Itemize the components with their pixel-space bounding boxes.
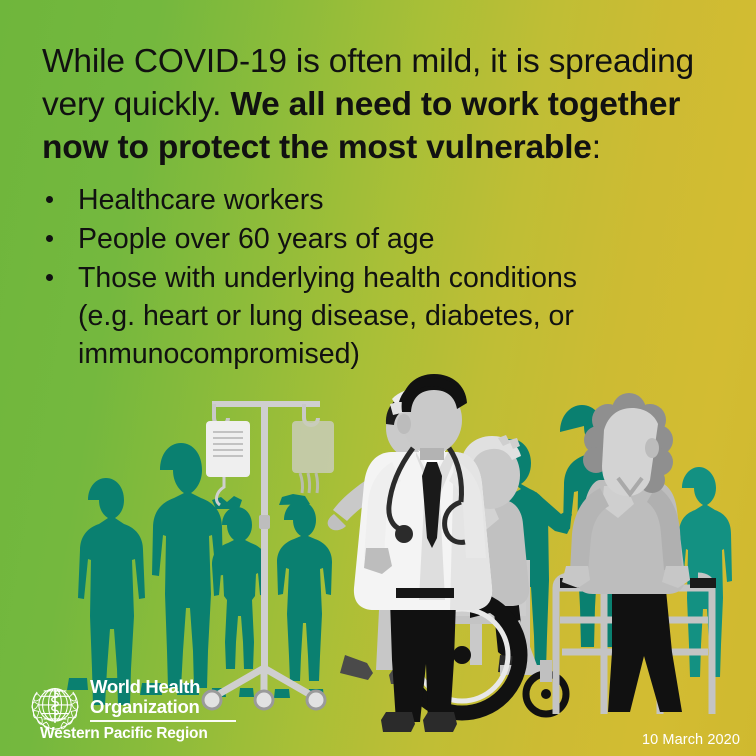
bullet-dot-icon [46, 235, 53, 242]
headline-colon: : [592, 129, 601, 166]
standing-man-silhouette [67, 478, 145, 705]
message-block: While COVID-19 is often mild, it is spre… [42, 40, 732, 374]
logo-line-2: Organization [90, 697, 236, 717]
teal-silhouette-group [67, 405, 732, 705]
girl-child-silhouette [211, 496, 267, 697]
who-logo: World Health Organization Western Pacifi… [28, 677, 236, 742]
elderly-person-with-walker [556, 393, 716, 714]
who-covid-infographic: While COVID-19 is often mild, it is spre… [0, 0, 756, 756]
list-item-line-1: Those with underlying health conditions [78, 262, 577, 294]
patient-in-wheelchair [404, 435, 566, 714]
who-logo-text: World Health Organization Western Pacifi… [90, 677, 236, 742]
background-person-silhouette [678, 467, 732, 677]
nurse-with-iv-stand [328, 388, 451, 684]
bullet-dot-icon [46, 274, 53, 281]
list-item-line-3: immunocompromised) [78, 335, 732, 373]
boy-child-silhouette [274, 494, 332, 698]
walker-frame [556, 575, 712, 714]
list-item: Healthcare workers [42, 181, 732, 219]
standing-woman-silhouette [140, 443, 223, 695]
gesturing-person-silhouette [491, 439, 572, 670]
date-stamp: 10 March 2020 [642, 732, 740, 748]
bullet-dot-icon [46, 196, 53, 203]
list-item-line-1: Healthcare workers [78, 184, 324, 216]
logo-divider [90, 720, 236, 722]
elderly-background-silhouette [560, 405, 624, 647]
iv-stand [203, 404, 334, 709]
list-item: People over 60 years of age [42, 220, 732, 258]
list-item-line-2: (e.g. heart or lung disease, diabetes, o… [78, 297, 732, 335]
logo-region: Western Pacific Region [40, 725, 236, 742]
doctor-with-stethoscope [354, 374, 492, 732]
headline: While COVID-19 is often mild, it is spre… [42, 40, 732, 169]
logo-line-1: World Health [90, 677, 236, 697]
list-item-line-1: People over 60 years of age [78, 223, 435, 255]
vulnerable-groups-list: Healthcare workers People over 60 years … [42, 181, 732, 373]
list-item: Those with underlying health conditions … [42, 259, 732, 373]
